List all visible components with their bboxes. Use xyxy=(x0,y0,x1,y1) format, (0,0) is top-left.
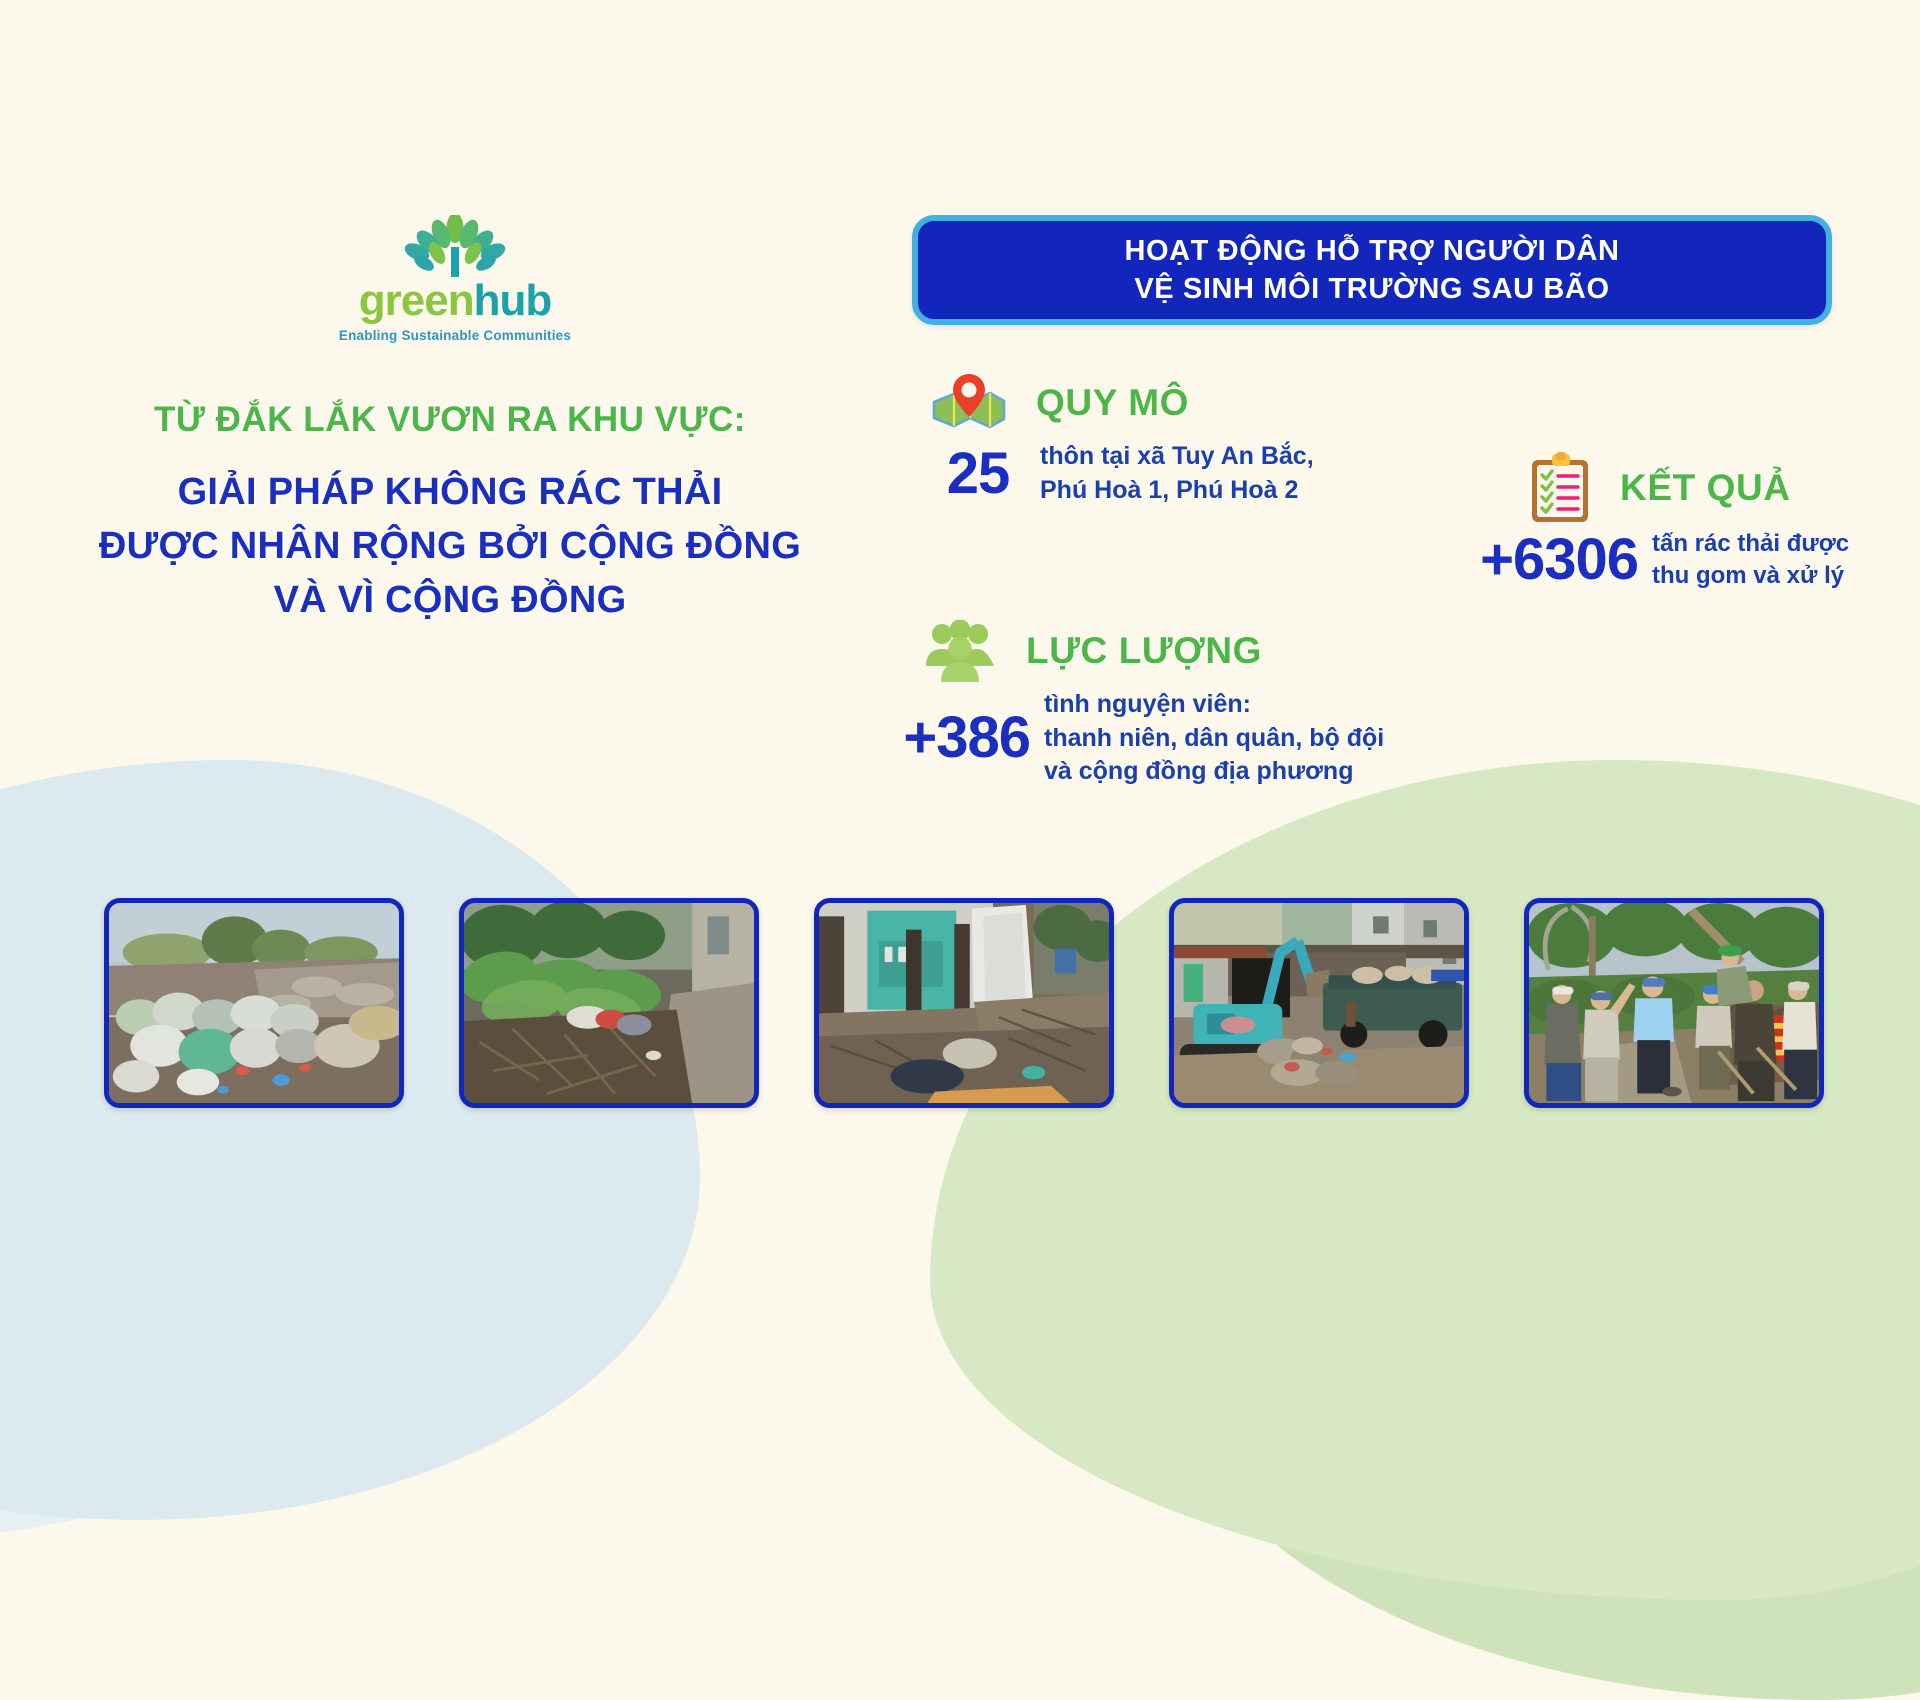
stat-block-force: LỰC LƯỢNG +386 tình nguyện viên: thanh n… xyxy=(920,620,1384,789)
logo-word-green: green xyxy=(359,276,474,325)
stat-block-result: KẾT QUẢ +6306 tấn rác thải được thu gom … xyxy=(1528,452,1849,592)
banner-title-line2: VỆ SINH MÔI TRƯỜNG SAU BÃO xyxy=(1134,270,1609,308)
logo-word-hub: hub xyxy=(474,276,552,325)
stat-block-scale: QUY MÔ 25 thôn tại xã Tuy An Bắc, Phú Ho… xyxy=(930,372,1314,507)
headline-line-3: VÀ VÌ CỘNG ĐỒNG xyxy=(0,574,900,628)
headline-line-1: GIẢI PHÁP KHÔNG RÁC THẢI xyxy=(0,466,900,520)
headline-block: TỪ ĐẮK LẮK VƯƠN RA KHU VỰC: GIẢI PHÁP KH… xyxy=(0,400,900,628)
stat-force-body: +386 tình nguyện viên: thanh niên, dân q… xyxy=(815,688,1384,789)
header-banner: HOẠT ĐỘNG HỖ TRỢ NGƯỜI DÂN VỆ SINH MÔI T… xyxy=(912,215,1832,325)
stat-force-desc-line3: và cộng đồng địa phương xyxy=(1044,755,1384,789)
stat-force-header: LỰC LƯỢNG xyxy=(920,620,1384,682)
stat-result-header: KẾT QUẢ xyxy=(1528,452,1849,524)
stat-result-title: KẾT QUẢ xyxy=(1620,467,1791,509)
photo-storm-vegetation-debris xyxy=(459,898,759,1108)
logo-tagline: Enabling Sustainable Communities xyxy=(330,328,580,343)
photo-volunteers-cleanup xyxy=(1524,898,1824,1108)
stat-scale-header: QUY MÔ xyxy=(930,372,1314,434)
stat-force-description: tình nguyện viên: thanh niên, dân quân, … xyxy=(1044,688,1384,789)
photo-landfill-waste-bags xyxy=(104,898,404,1108)
stat-result-description: tấn rác thải được thu gom và xử lý xyxy=(1652,528,1849,592)
stat-force-title: LỰC LƯỢNG xyxy=(1026,630,1262,672)
stat-result-number: +6306 xyxy=(1368,531,1638,589)
headline-line-2: ĐƯỢC NHÂN RỘNG BỞI CỘNG ĐỒNG xyxy=(0,520,900,574)
banner-title-line1: HOẠT ĐỘNG HỖ TRỢ NGƯỜI DÂN xyxy=(1124,232,1619,270)
stat-result-desc-line2: thu gom và xử lý xyxy=(1652,560,1849,592)
headline-main: GIẢI PHÁP KHÔNG RÁC THẢI ĐƯỢC NHÂN RỘNG … xyxy=(0,466,900,628)
map-location-pin-icon xyxy=(930,372,1008,434)
stat-scale-desc-line1: thôn tại xã Tuy An Bắc, xyxy=(1040,440,1314,474)
group-people-icon xyxy=(920,620,1000,682)
greenhub-logo: greenhub Enabling Sustainable Communitie… xyxy=(330,215,580,343)
headline-eyebrow: TỪ ĐẮK LẮK VƯƠN RA KHU VỰC: xyxy=(0,400,900,440)
photo-strip xyxy=(104,898,1832,1108)
stat-force-number: +386 xyxy=(815,709,1030,767)
stat-force-desc-line2: thanh niên, dân quân, bộ đội xyxy=(1044,722,1384,756)
stat-result-desc-line1: tấn rác thải được xyxy=(1652,528,1849,560)
clipboard-checklist-icon xyxy=(1528,452,1594,524)
stat-force-desc-line1: tình nguyện viên: xyxy=(1044,688,1384,722)
photo-flood-damaged-houses xyxy=(814,898,1114,1108)
stat-scale-number: 25 xyxy=(930,445,1026,503)
stat-scale-title: QUY MÔ xyxy=(1036,382,1189,424)
stat-scale-description: thôn tại xã Tuy An Bắc, Phú Hoà 1, Phú H… xyxy=(1040,440,1314,507)
tree-leaves-icon xyxy=(391,215,519,277)
photo-excavator-dump-truck xyxy=(1169,898,1469,1108)
stat-scale-body: 25 thôn tại xã Tuy An Bắc, Phú Hoà 1, Ph… xyxy=(930,440,1314,507)
stat-result-body: +6306 tấn rác thải được thu gom và xử lý xyxy=(1368,528,1849,592)
stat-scale-desc-line2: Phú Hoà 1, Phú Hoà 2 xyxy=(1040,474,1314,508)
infographic-page: greenhub Enabling Sustainable Communitie… xyxy=(0,0,1920,1280)
